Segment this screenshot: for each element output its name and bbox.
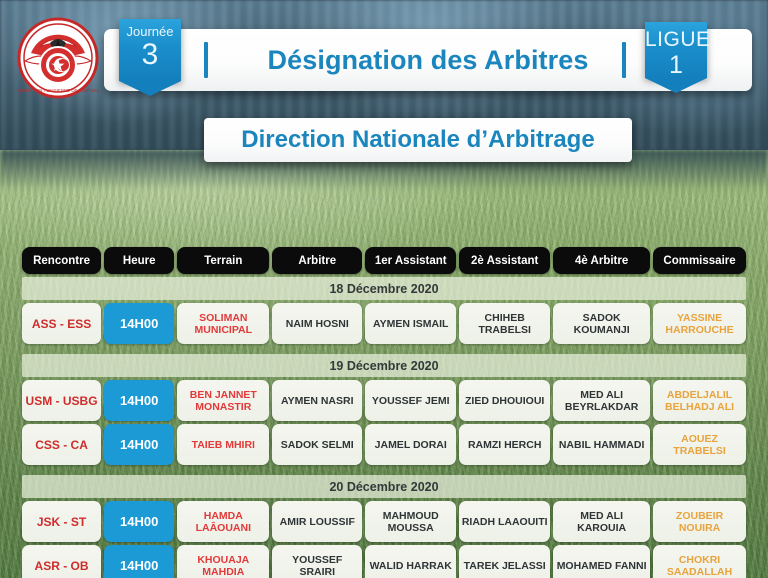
cell-assistant1: YOUSSEF JEMI: [365, 380, 456, 421]
cell-heure: 14H00: [104, 303, 174, 344]
cell-assistant2: ZIED DHOUIOUI: [459, 380, 550, 421]
column-header-2-assistant: 2è Assistant: [459, 247, 550, 274]
cell-arbitre4: SADOK KOUMANJI: [553, 303, 650, 344]
cell-assistant2: RAMZI HERCH: [459, 424, 550, 465]
table-header-row: RencontreHeureTerrainArbitre1er Assistan…: [22, 247, 746, 274]
cell-arbitre: NAIM HOSNI: [272, 303, 362, 344]
cell-assistant2: TAREK JELASSI: [459, 545, 550, 578]
cell-commissaire: CHOKRI SAADALLAH: [653, 545, 746, 578]
column-header-heure: Heure: [104, 247, 174, 274]
cell-heure: 14H00: [104, 380, 174, 421]
cell-rencontre: ASR - OB: [22, 545, 101, 578]
cell-terrain: HAMDA LAÂOUANI: [177, 501, 269, 542]
subtitle-banner: Direction Nationale d’Arbitrage: [204, 118, 632, 162]
column-header-terrain: Terrain: [177, 247, 269, 274]
group-spacer: [22, 468, 746, 475]
cell-heure: 14H00: [104, 424, 174, 465]
cell-commissaire: AOUEZ TRABELSI: [653, 424, 746, 465]
cell-assistant2: RIADH LAAOUITI: [459, 501, 550, 542]
federation-logo-icon: FEDERATION TUNISIENNE DE FOOTBALL: [17, 17, 99, 99]
ligue-badge: LIGUE 1: [645, 22, 707, 78]
column-header-arbitre: Arbitre: [272, 247, 362, 274]
table-row: ASS - ESS14H00SOLIMAN MUNICIPALNAIM HOSN…: [22, 303, 746, 344]
journee-number: 3: [119, 39, 181, 70]
cell-commissaire: ZOUBEIR NOUIRA: [653, 501, 746, 542]
cell-arbitre: AYMEN NASRI: [272, 380, 362, 421]
cell-terrain: BEN JANNET MONASTIR: [177, 380, 269, 421]
cell-arbitre: SADOK SELMI: [272, 424, 362, 465]
ligue-label: LIGUE: [645, 22, 707, 52]
cell-assistant1: JAMEL DORAI: [365, 424, 456, 465]
cell-assistant1: WALID HARRAK: [365, 545, 456, 578]
cell-heure: 14H00: [104, 501, 174, 542]
cell-rencontre: ASS - ESS: [22, 303, 101, 344]
cell-assistant2: CHIHEB TRABELSI: [459, 303, 550, 344]
cell-arbitre: YOUSSEF SRAIRI: [272, 545, 362, 578]
referee-designation-table: RencontreHeureTerrainArbitre1er Assistan…: [22, 247, 746, 578]
table-row: JSK - ST14H00HAMDA LAÂOUANIAMIR LOUSSIFM…: [22, 501, 746, 542]
cell-arbitre: AMIR LOUSSIF: [272, 501, 362, 542]
cell-arbitre4: MED ALI KAROUIA: [553, 501, 650, 542]
column-header-rencontre: Rencontre: [22, 247, 101, 274]
cell-commissaire: YASSINE HARROUCHE: [653, 303, 746, 344]
page-title: Désignation des Arbitres: [268, 45, 589, 76]
cell-terrain: TAIEB MHIRI: [177, 424, 269, 465]
cell-arbitre4: MED ALI BEYRLAKDAR: [553, 380, 650, 421]
cell-heure: 14H00: [104, 545, 174, 578]
table-row: USM - USBG14H00BEN JANNET MONASTIRAYMEN …: [22, 380, 746, 421]
journee-badge: Journée 3: [119, 19, 181, 81]
cell-rencontre: JSK - ST: [22, 501, 101, 542]
table-body: 18 Décembre 2020ASS - ESS14H00SOLIMAN MU…: [22, 277, 746, 578]
page-subtitle: Direction Nationale d’Arbitrage: [241, 126, 594, 154]
table-row: CSS - CA14H00TAIEB MHIRISADOK SELMIJAMEL…: [22, 424, 746, 465]
cell-arbitre4: MOHAMED FANNI: [553, 545, 650, 578]
cell-commissaire: ABDELJALIL BELHADJ ALI: [653, 380, 746, 421]
date-band: 19 Décembre 2020: [22, 354, 746, 377]
date-band: 20 Décembre 2020: [22, 475, 746, 498]
cell-terrain: KHOUAJA MAHDIA: [177, 545, 269, 578]
cell-assistant1: AYMEN ISMAIL: [365, 303, 456, 344]
page-header: FEDERATION TUNISIENNE DE FOOTBALL Désign…: [0, 0, 768, 175]
svg-text:FEDERATION TUNISIENNE DE FOOTB: FEDERATION TUNISIENNE DE FOOTBALL: [17, 88, 99, 93]
page-root: FEDERATION TUNISIENNE DE FOOTBALL Désign…: [0, 0, 768, 578]
group-spacer: [22, 347, 746, 354]
ligue-number: 1: [645, 52, 707, 78]
column-header-1er-assistant: 1er Assistant: [365, 247, 456, 274]
date-band: 18 Décembre 2020: [22, 277, 746, 300]
cell-terrain: SOLIMAN MUNICIPAL: [177, 303, 269, 344]
cell-rencontre: CSS - CA: [22, 424, 101, 465]
table-row: ASR - OB14H00KHOUAJA MAHDIAYOUSSEF SRAIR…: [22, 545, 746, 578]
column-header-4-arbitre: 4è Arbitre: [553, 247, 650, 274]
journee-label: Journée: [119, 19, 181, 39]
cell-arbitre4: NABIL HAMMADI: [553, 424, 650, 465]
cell-rencontre: USM - USBG: [22, 380, 101, 421]
column-header-commissaire: Commissaire: [653, 247, 746, 274]
cell-assistant1: MAHMOUD MOUSSA: [365, 501, 456, 542]
